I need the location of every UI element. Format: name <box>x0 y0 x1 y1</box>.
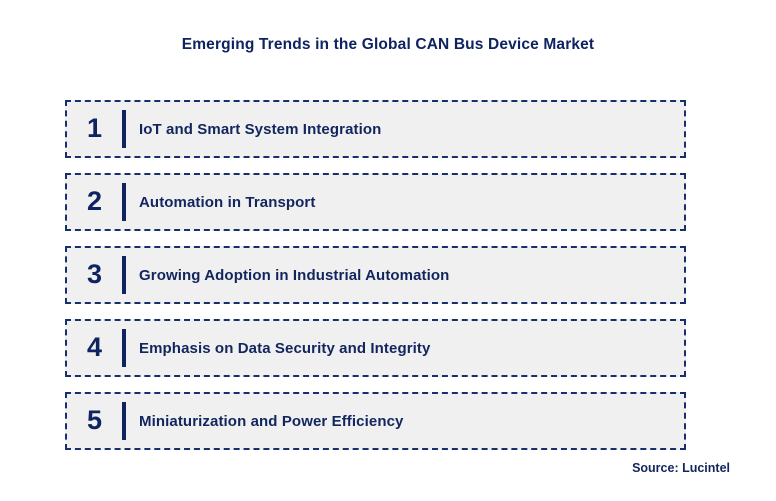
infographic-canvas: Emerging Trends in the Global CAN Bus De… <box>0 0 776 501</box>
page-title: Emerging Trends in the Global CAN Bus De… <box>0 36 776 54</box>
trend-label: Emphasis on Data Security and Integrity <box>126 340 684 357</box>
trend-label: Growing Adoption in Industrial Automatio… <box>126 267 684 284</box>
trend-label: IoT and Smart System Integration <box>126 121 684 138</box>
source-attribution: Source: Lucintel <box>632 461 730 475</box>
trend-number: 5 <box>67 407 122 436</box>
trend-list: 1 IoT and Smart System Integration 2 Aut… <box>65 100 686 450</box>
trend-label: Automation in Transport <box>126 194 684 211</box>
list-item[interactable]: 1 IoT and Smart System Integration <box>65 100 686 158</box>
trend-number: 4 <box>67 334 122 363</box>
trend-number: 1 <box>67 115 122 144</box>
trend-label: Miniaturization and Power Efficiency <box>126 413 684 430</box>
trend-number: 3 <box>67 261 122 290</box>
trend-number: 2 <box>67 188 122 217</box>
list-item[interactable]: 2 Automation in Transport <box>65 173 686 231</box>
list-item[interactable]: 4 Emphasis on Data Security and Integrit… <box>65 319 686 377</box>
list-item[interactable]: 3 Growing Adoption in Industrial Automat… <box>65 246 686 304</box>
list-item[interactable]: 5 Miniaturization and Power Efficiency <box>65 392 686 450</box>
